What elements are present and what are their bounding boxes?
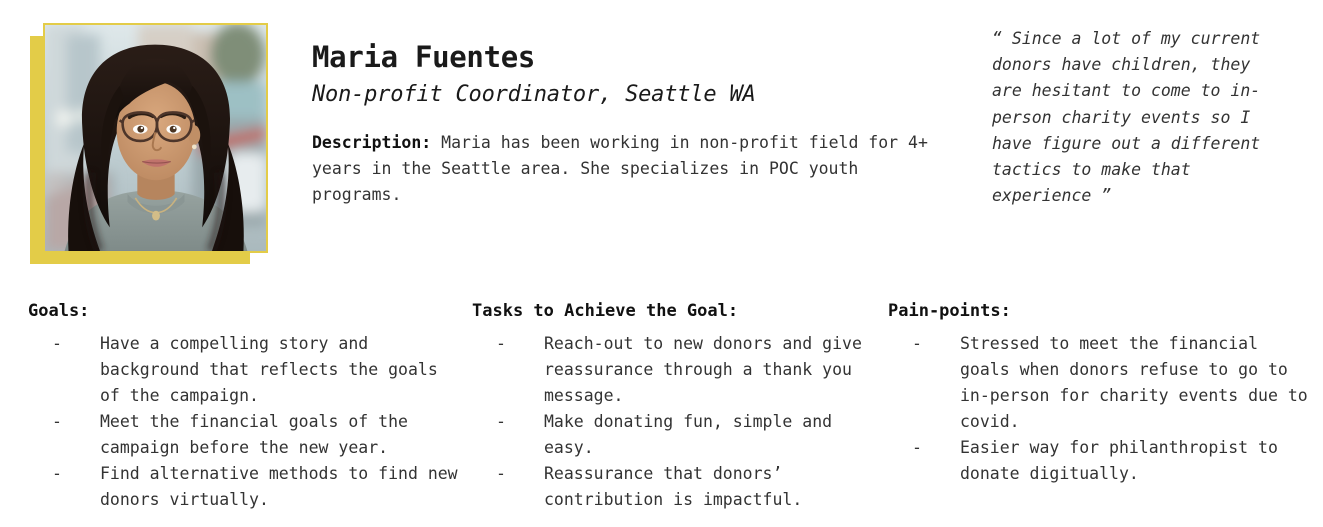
bullet-dash-icon: - <box>52 461 62 487</box>
bullet-dash-icon: - <box>496 461 506 487</box>
persona-avatar <box>43 23 268 253</box>
list-item: -Make donating fun, simple and easy. <box>472 409 872 461</box>
pain-points-column: Pain-points: -Stressed to meet the finan… <box>888 301 1308 487</box>
goals-title: Goals: <box>28 301 458 321</box>
portrait-illustration <box>45 25 266 251</box>
bullet-dash-icon: - <box>52 331 62 357</box>
bullet-dash-icon: - <box>496 331 506 357</box>
tasks-list: -Reach-out to new donors and give reassu… <box>472 331 872 513</box>
list-item-text: Stressed to meet the financial goals whe… <box>960 334 1308 431</box>
persona-description: Description: Maria has been working in n… <box>312 130 932 208</box>
bullet-dash-icon: - <box>496 409 506 435</box>
list-item: -Find alternative methods to find new do… <box>28 461 458 513</box>
page-title: Maria Fuentes <box>312 42 952 74</box>
list-item: -Reassurance that donors’ contribution i… <box>472 461 872 513</box>
pain-points-title: Pain-points: <box>888 301 1308 321</box>
list-item: -Easier way for philanthropist to donate… <box>888 435 1308 487</box>
goals-list: -Have a compelling story and background … <box>28 331 458 513</box>
list-item-text: Find alternative methods to find new don… <box>100 464 458 509</box>
list-item: -Meet the financial goals of the campaig… <box>28 409 458 461</box>
bullet-dash-icon: - <box>912 331 922 357</box>
goals-column: Goals: -Have a compelling story and back… <box>28 301 458 513</box>
pain-points-list: -Stressed to meet the financial goals wh… <box>888 331 1308 487</box>
tasks-column: Tasks to Achieve the Goal: -Reach-out to… <box>472 301 872 513</box>
persona-header: Maria Fuentes Non-profit Coordinator, Se… <box>312 42 952 208</box>
list-item-text: Reach-out to new donors and give reassur… <box>544 334 862 405</box>
persona-quote: “ Since a lot of my current donors have … <box>992 26 1282 209</box>
description-label: Description: <box>312 133 431 152</box>
bullet-dash-icon: - <box>52 409 62 435</box>
tasks-title: Tasks to Achieve the Goal: <box>472 301 872 321</box>
persona-role: Non-profit Coordinator, Seattle WA <box>312 80 952 110</box>
list-item: -Stressed to meet the financial goals wh… <box>888 331 1308 435</box>
list-item: -Reach-out to new donors and give reassu… <box>472 331 872 409</box>
list-item-text: Have a compelling story and background t… <box>100 334 438 405</box>
list-item-text: Make donating fun, simple and easy. <box>544 412 832 457</box>
list-item-text: Easier way for philanthropist to donate … <box>960 438 1278 483</box>
list-item-text: Meet the financial goals of the campaign… <box>100 412 408 457</box>
bullet-dash-icon: - <box>912 435 922 461</box>
persona-photo-block <box>30 23 268 268</box>
list-item-text: Reassurance that donors’ contribution is… <box>544 464 802 509</box>
list-item: -Have a compelling story and background … <box>28 331 458 409</box>
